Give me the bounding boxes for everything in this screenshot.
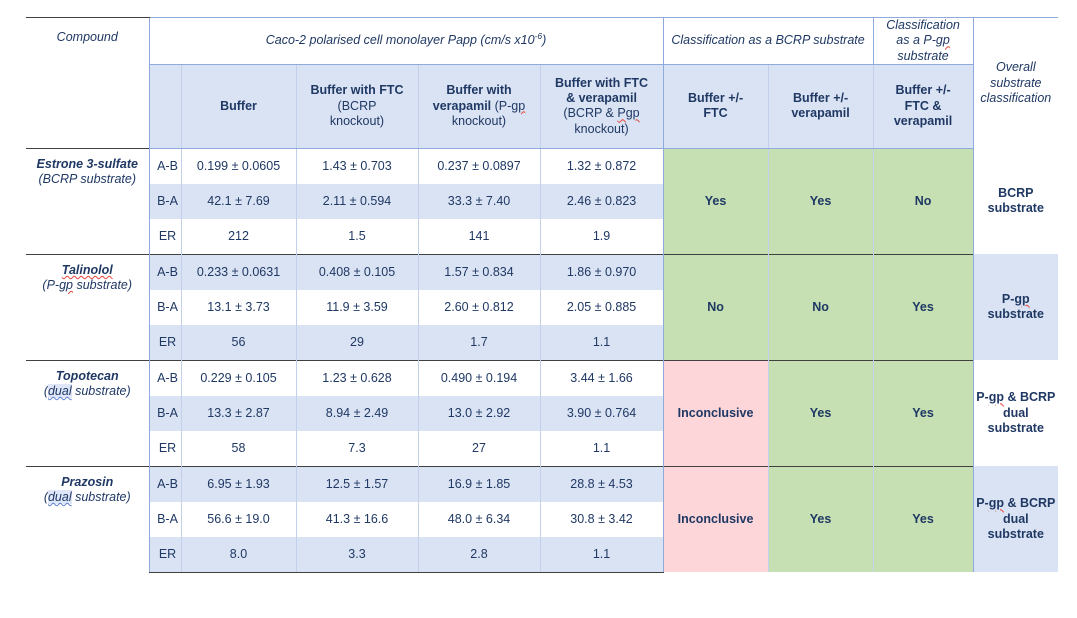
papp-value: 13.1 ± 3.73 — [181, 290, 296, 325]
classification-ftc-verapamil: Yes — [873, 254, 973, 360]
substrate-classification-table: CompoundCaco-2 polarised cell monolayer … — [26, 17, 1058, 573]
papp-value: 3.44 ± 1.66 — [540, 360, 663, 396]
header-buffer-ftc: Buffer with FTC(BCRPknockout) — [296, 64, 418, 148]
classification-ftc: Inconclusive — [663, 466, 768, 572]
compound-name-cell: Topotecan(dual substrate) — [26, 360, 149, 466]
papp-value: 1.1 — [540, 537, 663, 573]
papp-value: 0.229 ± 0.105 — [181, 360, 296, 396]
papp-value: 0.233 ± 0.0631 — [181, 254, 296, 290]
papp-value: 56 — [181, 325, 296, 361]
classification-ftc: No — [663, 254, 768, 360]
compound-name-bold: Prazosin — [61, 475, 113, 489]
classification-ftc: Inconclusive — [663, 360, 768, 466]
header-pgp-classification: Classificationas a P-gpsubstrate — [873, 18, 973, 65]
papp-value: 1.1 — [540, 325, 663, 361]
compound-name-bold: Estrone 3-sulfate — [37, 157, 138, 171]
papp-value: 1.7 — [418, 325, 540, 361]
classification-ftc-verapamil: Yes — [873, 466, 973, 572]
papp-value: 11.9 ± 3.59 — [296, 290, 418, 325]
papp-value: 1.32 ± 0.872 — [540, 148, 663, 184]
papp-value: 1.9 — [540, 219, 663, 255]
compound-name-note: (BCRP substrate) — [39, 172, 136, 186]
papp-value: 28.8 ± 4.53 — [540, 466, 663, 502]
header-row-sub: BufferBuffer with FTC(BCRPknockout)Buffe… — [26, 64, 1058, 148]
papp-value: 33.3 ± 7.40 — [418, 184, 540, 219]
header-buffer: Buffer — [181, 64, 296, 148]
papp-value: 0.490 ± 0.194 — [418, 360, 540, 396]
papp-value: 1.43 ± 0.703 — [296, 148, 418, 184]
compound-name-note: (dual substrate) — [44, 490, 131, 504]
header-compound: Compound — [26, 18, 149, 149]
table-sheet: CompoundCaco-2 polarised cell monolayer … — [0, 0, 1077, 618]
papp-value: 2.60 ± 0.812 — [418, 290, 540, 325]
papp-value: 16.9 ± 1.85 — [418, 466, 540, 502]
classification-ftc: Yes — [663, 148, 768, 254]
header-direction-spacer — [149, 64, 181, 148]
papp-value: 3.90 ± 0.764 — [540, 396, 663, 431]
papp-value: 212 — [181, 219, 296, 255]
table-body: CompoundCaco-2 polarised cell monolayer … — [26, 18, 1058, 573]
papp-value: 0.408 ± 0.105 — [296, 254, 418, 290]
papp-value: 3.3 — [296, 537, 418, 573]
header-overall-classification: Overallsubstrateclassification — [973, 18, 1058, 149]
papp-value: 42.1 ± 7.69 — [181, 184, 296, 219]
papp-value: 2.46 ± 0.823 — [540, 184, 663, 219]
direction-label: B-A — [149, 502, 181, 537]
papp-value: 0.237 ± 0.0897 — [418, 148, 540, 184]
classification-ftc-verapamil: Yes — [873, 360, 973, 466]
header-class-both: Buffer +/-FTC &verapamil — [873, 64, 973, 148]
papp-value: 6.95 ± 1.93 — [181, 466, 296, 502]
classification-verapamil: Yes — [768, 466, 873, 572]
compound-name-cell: Talinolol(P-gp substrate) — [26, 254, 149, 360]
direction-label: A-B — [149, 148, 181, 184]
papp-value: 30.8 ± 3.42 — [540, 502, 663, 537]
header-class-verapamil: Buffer +/-verapamil — [768, 64, 873, 148]
compound-name-bold: Talinolol — [62, 263, 113, 277]
header-papp-label: Caco-2 polarised cell monolayer Papp (cm… — [266, 33, 547, 47]
classification-verapamil: No — [768, 254, 873, 360]
papp-value: 141 — [418, 219, 540, 255]
papp-value: 41.3 ± 16.6 — [296, 502, 418, 537]
papp-value: 48.0 ± 6.34 — [418, 502, 540, 537]
papp-value: 2.8 — [418, 537, 540, 573]
header-class-ftc: Buffer +/-FTC — [663, 64, 768, 148]
header-row-top: CompoundCaco-2 polarised cell monolayer … — [26, 18, 1058, 65]
compound-name-cell: Estrone 3-sulfate (BCRP substrate) — [26, 148, 149, 254]
papp-value: 8.0 — [181, 537, 296, 573]
header-bcrp-classification: Classification as a BCRP substrate — [663, 18, 873, 65]
classification-verapamil: Yes — [768, 360, 873, 466]
header-papp-group: Caco-2 polarised cell monolayer Papp (cm… — [149, 18, 663, 65]
papp-value: 1.5 — [296, 219, 418, 255]
papp-value: 1.86 ± 0.970 — [540, 254, 663, 290]
compound-name-cell: Prazosin(dual substrate) — [26, 466, 149, 572]
direction-label: A-B — [149, 360, 181, 396]
classification-ftc-verapamil: No — [873, 148, 973, 254]
direction-label: B-A — [149, 396, 181, 431]
table-row: Prazosin(dual substrate)A-B6.95 ± 1.9312… — [26, 466, 1058, 502]
spellcheck-mark: gp — [936, 33, 950, 47]
papp-value: 1.57 ± 0.834 — [418, 254, 540, 290]
compound-name-note: (P-gp substrate) — [42, 278, 132, 292]
overall-classification: BCRPsubstrate — [973, 148, 1058, 254]
overall-classification: P-gp & BCRPdualsubstrate — [973, 466, 1058, 572]
direction-label: A-B — [149, 254, 181, 290]
header-buffer-ftc-verapamil: Buffer with FTC& verapamil(BCRP & Pgpkno… — [540, 64, 663, 148]
papp-value: 56.6 ± 19.0 — [181, 502, 296, 537]
table-row: Talinolol(P-gp substrate)A-B0.233 ± 0.06… — [26, 254, 1058, 290]
papp-value: 2.11 ± 0.594 — [296, 184, 418, 219]
header-papp-exponent: -6 — [535, 31, 543, 41]
papp-value: 2.05 ± 0.885 — [540, 290, 663, 325]
direction-label: A-B — [149, 466, 181, 502]
direction-label: ER — [149, 537, 181, 573]
direction-label: ER — [149, 431, 181, 467]
compound-name-bold: Topotecan — [56, 369, 119, 383]
header-buffer-verapamil: Buffer withverapamil (P-gpknockout) — [418, 64, 540, 148]
papp-value: 58 — [181, 431, 296, 467]
papp-value: 29 — [296, 325, 418, 361]
direction-label: B-A — [149, 184, 181, 219]
classification-verapamil: Yes — [768, 148, 873, 254]
papp-value: 7.3 — [296, 431, 418, 467]
table-row: Estrone 3-sulfate (BCRP substrate)A-B0.1… — [26, 148, 1058, 184]
papp-value: 27 — [418, 431, 540, 467]
papp-value: 13.0 ± 2.92 — [418, 396, 540, 431]
overall-classification: P-gpsubstrate — [973, 254, 1058, 360]
papp-value: 0.199 ± 0.0605 — [181, 148, 296, 184]
direction-label: ER — [149, 219, 181, 255]
table-row: Topotecan(dual substrate)A-B0.229 ± 0.10… — [26, 360, 1058, 396]
overall-classification: P-gp & BCRPdualsubstrate — [973, 360, 1058, 466]
direction-label: ER — [149, 325, 181, 361]
direction-label: B-A — [149, 290, 181, 325]
papp-value: 1.23 ± 0.628 — [296, 360, 418, 396]
papp-value: 1.1 — [540, 431, 663, 467]
papp-value: 12.5 ± 1.57 — [296, 466, 418, 502]
papp-value: 8.94 ± 2.49 — [296, 396, 418, 431]
papp-value: 13.3 ± 2.87 — [181, 396, 296, 431]
compound-name-note: (dual substrate) — [44, 384, 131, 398]
